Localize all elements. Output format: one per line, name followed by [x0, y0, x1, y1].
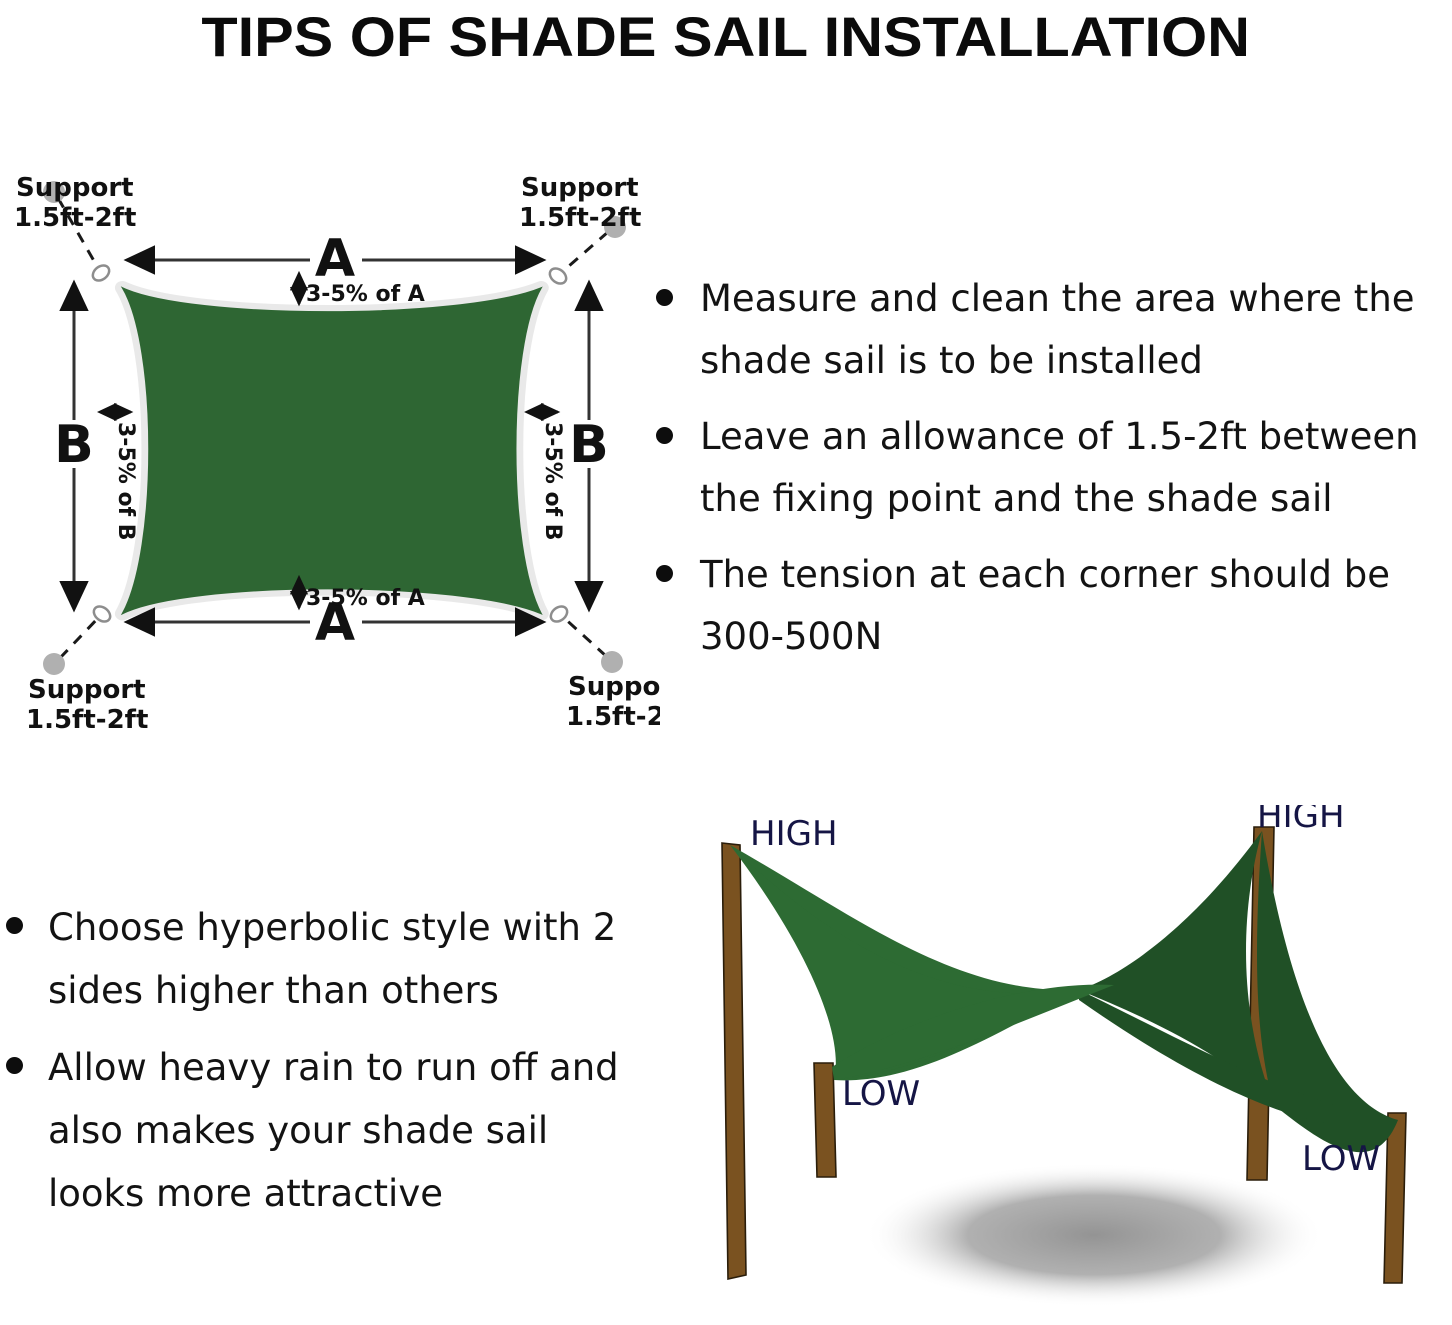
support-label-bottom-right-line1: Support	[568, 672, 660, 702]
list-item: Allow heavy rain to run off and also mak…	[2, 1036, 622, 1225]
page-header: TIPS OF SHADE SAIL INSTALLATION	[0, 0, 1452, 72]
list-item: Choose hyperbolic style with 2 sides hig…	[2, 896, 622, 1022]
pole-low-left	[814, 1063, 836, 1177]
bullet-point-icon	[656, 289, 673, 306]
hyperbolic-sail-diagram: HIGH HIGH LOW LOW	[694, 805, 1452, 1325]
tip-text: Choose hyperbolic style with 2 sides hig…	[48, 896, 622, 1022]
dimension-label-b-right: B	[569, 415, 609, 475]
support-label-bottom-right-line2: 1.5ft-2ft	[566, 702, 660, 732]
list-item: Leave an allowance of 1.5-2ft between th…	[648, 406, 1452, 530]
pole-high-left	[722, 843, 746, 1279]
tip-text: Allow heavy rain to run off and also mak…	[48, 1036, 622, 1225]
dimension-label-a-top: A	[315, 229, 355, 289]
leader-line-bottom-right	[562, 616, 606, 656]
support-label-top-right-line2: 1.5ft-2ft	[519, 203, 641, 233]
grommet-top-left	[90, 262, 112, 283]
list-item: Measure and clean the area where the sha…	[648, 268, 1452, 392]
ground-shadow	[864, 1163, 1324, 1307]
page-title: TIPS OF SHADE SAIL INSTALLATION	[202, 4, 1251, 69]
dimension-label-b-left: B	[54, 415, 94, 475]
shade-sail-body	[122, 288, 541, 614]
label-high-right: HIGH	[1257, 805, 1345, 836]
label-high-left: HIGH	[750, 814, 838, 854]
label-low-left: LOW	[842, 1074, 920, 1114]
support-label-top-right-line1: Support	[521, 173, 639, 203]
support-label-bottom-left-line1: Support	[28, 675, 146, 705]
tip-text: Measure and clean the area where the sha…	[700, 268, 1452, 392]
list-item: The tension at each corner should be 300…	[648, 544, 1452, 668]
leader-line-top-right	[562, 232, 608, 272]
grommet-top-right	[547, 265, 569, 286]
support-label-top-left-line2: 1.5ft-2ft	[14, 203, 136, 233]
curve-label-b-right: 3-5% of B	[540, 422, 565, 541]
tip-text: The tension at each corner should be 300…	[700, 544, 1452, 668]
label-low-right: LOW	[1302, 1139, 1380, 1179]
curve-label-a-bottom: 3-5% of A	[306, 586, 425, 611]
leader-line-bottom-left	[60, 616, 100, 658]
support-label-bottom-left-line2: 1.5ft-2ft	[26, 705, 148, 735]
sail-lobe-dark	[1079, 831, 1274, 1105]
bullet-point-icon	[6, 1057, 23, 1074]
grommet-bottom-right	[548, 603, 570, 624]
bullet-point-icon	[656, 427, 673, 444]
bullet-point-icon	[656, 565, 673, 582]
installation-tips-list-top: Measure and clean the area where the sha…	[648, 268, 1452, 682]
tip-text: Leave an allowance of 1.5-2ft between th…	[700, 406, 1452, 530]
support-dot-bottom-left	[43, 653, 65, 675]
support-dot-bottom-right	[601, 651, 623, 673]
rectangular-sail-diagram: Support 1.5ft-2ft Support 1.5ft-2ft Supp…	[0, 150, 660, 910]
curve-label-a-top: 3-5% of A	[306, 282, 425, 307]
support-label-top-left-line1: Support	[16, 173, 134, 203]
installation-tips-list-bottom: Choose hyperbolic style with 2 sides hig…	[2, 896, 622, 1239]
bullet-point-icon	[6, 917, 23, 934]
curve-label-b-left: 3-5% of B	[113, 422, 138, 541]
